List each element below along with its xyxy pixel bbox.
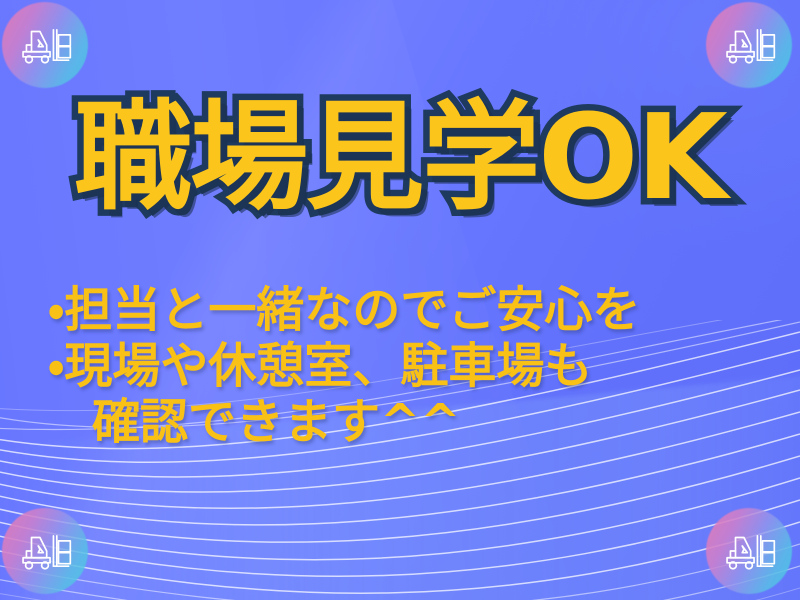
forklift-icon [722,23,776,67]
forklift-badge-bottom-right [706,508,792,594]
bullet-line-1: ・担当と一緒なのでご安心を [48,282,800,338]
bullet-list: ・担当と一緒なのでご安心を ・現場や休憩室、駐車場も 確認できます^^ [0,282,800,450]
forklift-badge-bottom-left [2,508,88,594]
headline: 職場見学OK [0,96,800,220]
bullet-line-3: 確認できます^^ [48,394,800,450]
bullet-line-2: ・現場や休憩室、駐車場も [48,338,800,394]
headline-text: 職場見学OK [74,96,726,220]
forklift-icon [18,23,72,67]
forklift-icon [722,529,776,573]
forklift-badge-top-right [706,2,792,88]
promotional-banner: 職場見学OK ・担当と一緒なのでご安心を ・現場や休憩室、駐車場も 確認できます… [0,0,800,600]
forklift-icon [18,529,72,573]
forklift-badge-top-left [2,2,88,88]
